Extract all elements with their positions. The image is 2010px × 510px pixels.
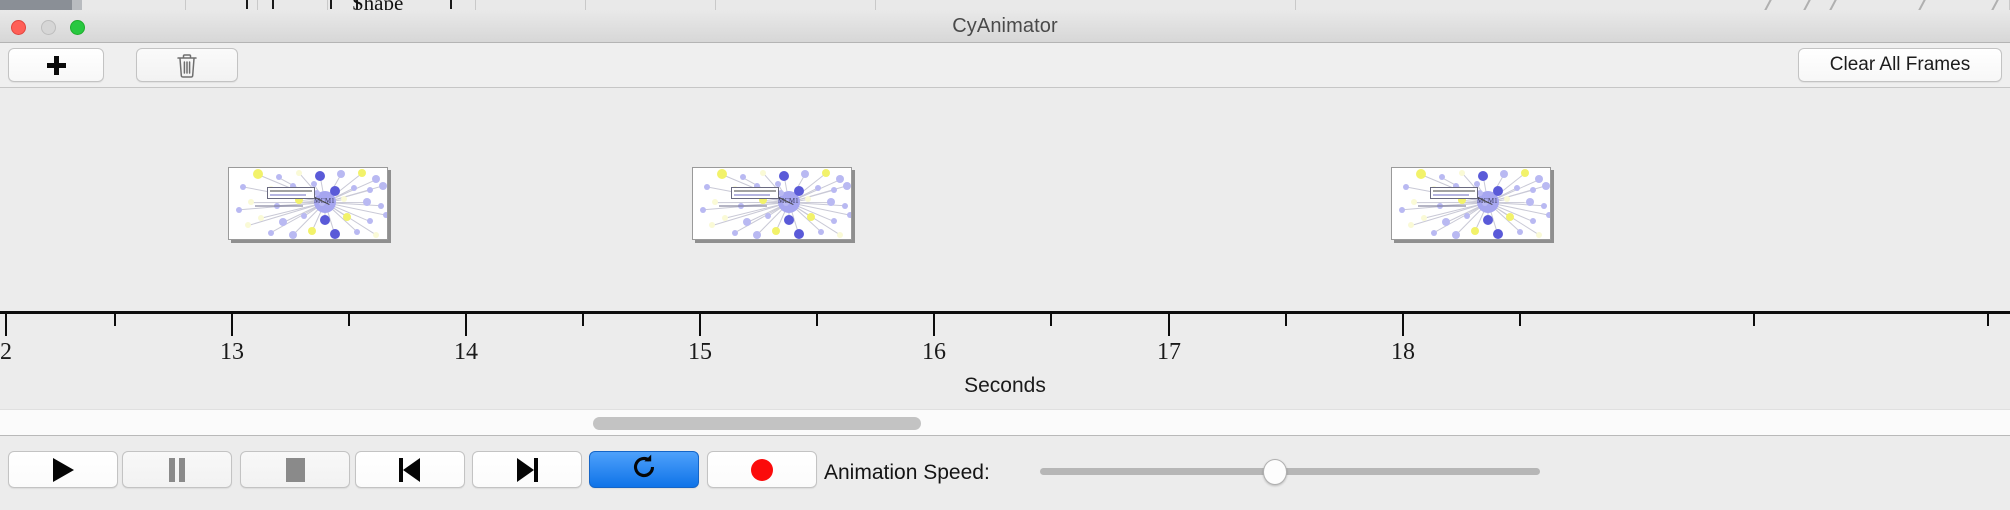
network-tooltip-line [270, 194, 306, 196]
network-node [732, 230, 738, 236]
network-node [1542, 182, 1550, 190]
background-toolbar-segment [476, 0, 586, 10]
network-node [1506, 213, 1514, 221]
timeline-tick-major [1168, 314, 1170, 336]
timeline-tick-label: 13 [220, 339, 244, 366]
network-node [740, 174, 746, 180]
network-node [1483, 215, 1493, 225]
timeline-tick-minor [1519, 314, 1521, 326]
background-toolbar-segment [876, 0, 1296, 10]
network-node [354, 229, 360, 235]
network-node [700, 207, 706, 213]
network-node [822, 169, 830, 177]
background-toolbar-segment [586, 0, 716, 10]
background-label-shape: Shape [352, 0, 403, 10]
network-node [367, 187, 373, 193]
network-node [289, 231, 297, 239]
frame-thumbnail-1[interactable]: MCM1 [228, 167, 388, 240]
network-node [775, 181, 781, 187]
network-node [330, 229, 340, 239]
network-node [704, 184, 710, 190]
network-node [301, 213, 307, 219]
window-title: CyAnimator [0, 10, 2010, 43]
trash-icon [175, 52, 199, 78]
timeline-tick-minor [582, 314, 584, 326]
network-node [337, 170, 345, 178]
network-node [1464, 213, 1470, 219]
network-node [315, 171, 325, 181]
network-node [343, 213, 351, 221]
timeline-tick-major [5, 314, 7, 336]
network-node [753, 231, 761, 239]
network-node [308, 227, 316, 235]
network-node [245, 222, 251, 228]
network-node [1514, 185, 1520, 191]
network-node [784, 215, 794, 225]
network-node [709, 222, 715, 228]
network-node [836, 175, 844, 183]
network-diagram: MCM1 [693, 168, 851, 239]
network-node [276, 174, 282, 180]
network-node [311, 181, 317, 187]
network-node [268, 230, 274, 236]
network-node [1403, 184, 1409, 190]
animation-speed-label: Animation Speed: [824, 461, 990, 485]
delete-frame-button[interactable] [136, 48, 238, 82]
network-node [1541, 203, 1547, 209]
network-node [794, 186, 804, 196]
axis-title-seconds: Seconds [0, 374, 2010, 398]
background-window-strip: Shape [0, 0, 2010, 10]
timeline-tick-label: 15 [688, 339, 712, 366]
network-node [1442, 218, 1450, 226]
timeline-tick-label: 16 [922, 339, 946, 366]
network-node [779, 171, 789, 181]
timeline-tick-label: 14 [454, 339, 478, 366]
plus-icon [47, 56, 66, 75]
skip-to-start-button[interactable] [355, 451, 465, 488]
network-node [794, 229, 804, 239]
timeline-tick-major [699, 314, 701, 336]
network-node [240, 184, 246, 190]
timeline-tick-major [1402, 314, 1404, 336]
timeline-tick-minor [816, 314, 818, 326]
timeline-tick-minor [114, 314, 116, 326]
network-node [351, 185, 357, 191]
background-titlebar-dark [0, 0, 72, 10]
network-node [1517, 229, 1523, 235]
network-node [1471, 227, 1479, 235]
network-node [279, 218, 287, 226]
background-titlebar-light [72, 0, 82, 10]
network-node [831, 187, 837, 193]
network-node [712, 199, 718, 205]
skip-back-icon [399, 458, 421, 482]
network-node [383, 212, 387, 218]
network-node [1546, 212, 1550, 218]
network-node [722, 215, 728, 221]
network-node [827, 198, 835, 206]
network-tooltip [267, 187, 315, 199]
network-node [358, 169, 366, 177]
network-caption [255, 205, 303, 207]
network-node [1535, 175, 1543, 183]
playback-controls: Animation Speed: [0, 437, 2010, 510]
network-node [847, 212, 851, 218]
network-node [1399, 207, 1405, 213]
network-tooltip-line [1433, 194, 1469, 196]
network-node [842, 203, 848, 209]
loop-icon [630, 453, 658, 486]
network-node [831, 218, 837, 224]
frame-thumbnail-2[interactable]: MCM1 [692, 167, 852, 240]
record-icon [751, 459, 773, 481]
timeline-horizontal-scrollbar[interactable] [0, 409, 2010, 436]
background-toolbar-segment [82, 0, 186, 10]
network-caption [719, 205, 767, 207]
network-diagram: MCM1 [229, 168, 387, 239]
timeline-tick-minor [1050, 314, 1052, 326]
network-node [837, 232, 843, 238]
timeline-tick-major [231, 314, 233, 336]
animation-speed-slider-thumb[interactable] [1263, 459, 1287, 485]
network-node [807, 213, 815, 221]
network-node [258, 215, 264, 221]
play-button[interactable] [8, 451, 118, 488]
network-node [765, 213, 771, 219]
network-node [1411, 199, 1417, 205]
network-caption [1418, 205, 1466, 207]
stop-button [240, 451, 350, 488]
skip-to-end-button[interactable] [472, 451, 582, 488]
background-tick-mark [330, 0, 332, 9]
network-tooltip-line [734, 198, 764, 199]
timeline-tick-minor [1753, 314, 1755, 326]
network-node [372, 175, 380, 183]
timeline-tick-minor [1987, 314, 1989, 326]
add-frame-button[interactable] [8, 48, 104, 82]
timeline-tick-major [465, 314, 467, 336]
network-node [253, 169, 263, 179]
record-button[interactable] [707, 451, 817, 488]
network-node [367, 218, 373, 224]
network-node [1452, 231, 1460, 239]
network-tooltip [731, 187, 779, 199]
network-diagram: MCM1 [1392, 168, 1550, 239]
network-tooltip-line [734, 190, 776, 192]
network-node [1421, 215, 1427, 221]
network-node [818, 229, 824, 235]
play-icon [53, 458, 74, 482]
network-tooltip-line [734, 194, 770, 196]
timeline-tick-minor [348, 314, 350, 326]
scrollbar-thumb[interactable] [593, 417, 921, 430]
network-node [772, 227, 780, 235]
title-bar: CyAnimator [0, 10, 2010, 43]
clear-all-frames-label: Clear All Frames [1830, 54, 1970, 76]
pause-icon [168, 458, 186, 482]
network-tooltip-line [270, 198, 300, 199]
stop-icon [286, 458, 305, 482]
network-node [1478, 171, 1488, 181]
timeline-tick-major [933, 314, 935, 336]
network-tooltip [1430, 187, 1478, 199]
network-node [236, 207, 242, 213]
network-tooltip-line [1433, 198, 1463, 199]
timeline-tick-minor [1285, 314, 1287, 326]
timeline-tick-label: 2 [0, 339, 12, 366]
timeline-axis [0, 311, 2010, 314]
network-tooltip-line [270, 190, 312, 192]
network-node [1536, 232, 1542, 238]
pause-button [122, 451, 232, 488]
network-node [363, 198, 371, 206]
network-node [1521, 169, 1529, 177]
background-tick-mark [272, 0, 274, 9]
network-node [717, 169, 727, 179]
background-toolbar-segment [716, 0, 876, 10]
cyanimator-window: Shape CyAnimator Clear All Frames MCM1MC… [0, 0, 2010, 510]
toolbar: Clear All Frames [0, 43, 2010, 88]
background-tick-mark [246, 0, 248, 9]
timeline-tick-label: 18 [1391, 339, 1415, 366]
loop-button[interactable] [589, 451, 699, 488]
network-node [843, 182, 851, 190]
network-node [1474, 181, 1480, 187]
network-node [801, 170, 809, 178]
network-node [1530, 187, 1536, 193]
network-node [378, 203, 384, 209]
network-node [743, 218, 751, 226]
frame-thumbnail-3[interactable]: MCM1 [1391, 167, 1551, 240]
network-node [248, 199, 254, 205]
network-node [1500, 170, 1508, 178]
skip-forward-icon [516, 458, 538, 482]
network-node [1408, 222, 1414, 228]
background-tick-mark [450, 0, 452, 9]
background-toolbar-segment [1296, 0, 2010, 10]
network-node [373, 232, 379, 238]
animation-speed-slider[interactable] [1040, 468, 1540, 475]
timeline-panel[interactable]: MCM1MCM1MCM1 2131415161718 Seconds [0, 89, 2010, 409]
network-node [379, 182, 387, 190]
network-node [1530, 218, 1536, 224]
clear-all-frames-button[interactable]: Clear All Frames [1798, 48, 2002, 82]
network-node [1416, 169, 1426, 179]
network-node [1431, 230, 1437, 236]
background-toolbar-segment [258, 0, 328, 10]
network-node [815, 185, 821, 191]
network-node [1526, 198, 1534, 206]
network-node [1493, 229, 1503, 239]
network-node [320, 215, 330, 225]
network-node [1493, 186, 1503, 196]
network-tooltip-line [1433, 190, 1475, 192]
network-node [330, 186, 340, 196]
network-node [1439, 174, 1445, 180]
timeline-tick-label: 17 [1157, 339, 1181, 366]
